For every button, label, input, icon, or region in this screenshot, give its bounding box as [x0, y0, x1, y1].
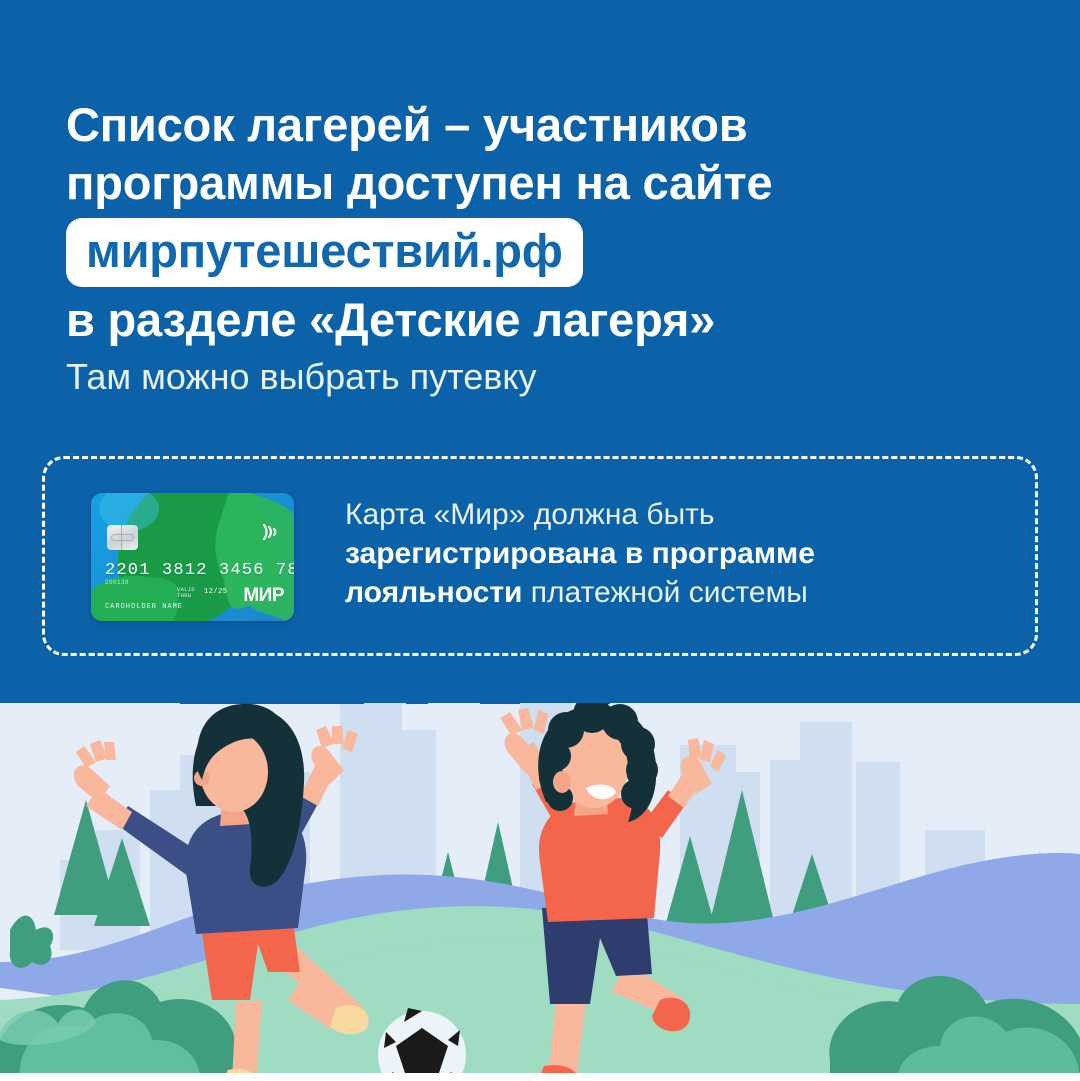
- website-url-chip[interactable]: мирпутешествий.рф: [66, 218, 583, 287]
- page-title: Список лагерей – участников программы до…: [66, 96, 1026, 349]
- requirement-bold-1: зарегистрирована в программе: [345, 537, 815, 570]
- emv-chip-icon: [107, 525, 138, 550]
- headline-line-2: программы доступен на сайте: [66, 154, 1026, 212]
- poster-root: Список лагерей – участников программы до…: [0, 0, 1080, 1081]
- subtitle: Там можно выбрать путевку: [66, 355, 966, 399]
- headline-line-1: Список лагерей – участников: [66, 96, 1026, 154]
- blue-header-panel: Список лагерей – участников программы до…: [0, 0, 1080, 703]
- headline-line-4: в разделе «Детские лагеря»: [66, 291, 1026, 349]
- card-valid-date: 12/25: [204, 588, 228, 596]
- card-valid-label: VALIDTHRU: [177, 587, 195, 599]
- shoe-right: [330, 1005, 369, 1034]
- bottom-strip: [0, 1073, 1080, 1081]
- requirement-tail: платежной системы: [522, 576, 807, 609]
- card-requirement-text: Карта «Мир» должна быть зарегистрирована…: [345, 495, 1005, 612]
- requirement-bold-2: лояльности: [345, 576, 522, 609]
- card-number-sub: 200138: [105, 579, 129, 586]
- requirement-lead: Карта «Мир» должна быть: [345, 498, 715, 531]
- card-requirement-box: 2201 3812 3456 7891 200138 VALIDTHRU 12/…: [42, 456, 1038, 656]
- card-number: 2201 3812 3456 7891: [105, 561, 294, 580]
- card-holder-name: CARDHOLDER NAME: [105, 603, 183, 611]
- contactless-icon: [256, 519, 282, 545]
- mir-logo: МИР: [243, 585, 284, 607]
- mir-bank-card: 2201 3812 3456 7891 200138 VALIDTHRU 12/…: [91, 493, 294, 621]
